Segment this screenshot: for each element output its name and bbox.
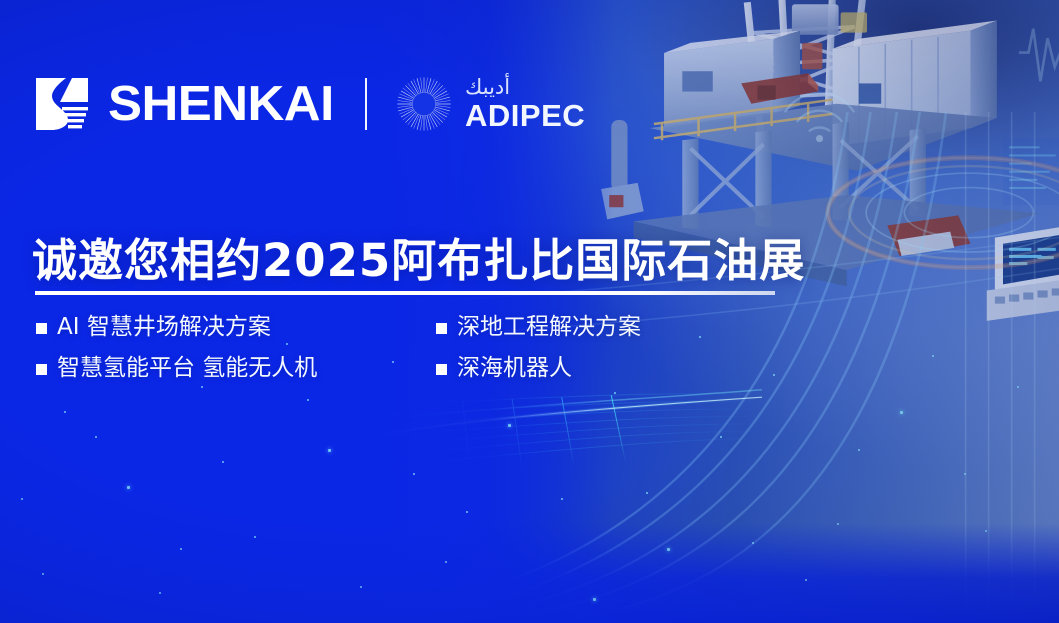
adipec-2025-promo-banner: SHENKAI — [0, 0, 1059, 623]
highlight-deep-sea-robot: 深海机器人 — [436, 355, 736, 381]
adipec-text-block: أديبك ADIPEC — [465, 77, 585, 131]
square-bullet-icon — [36, 323, 47, 334]
square-bullet-icon — [436, 364, 447, 375]
shenkai-sk-monogram-icon — [32, 76, 92, 132]
list-item-label: AI 智慧井场解决方案 — [57, 314, 271, 340]
page-title: 诚邀您相约2025阿布扎比国际石油展 — [32, 224, 805, 289]
adipec-latin-name: ADIPEC — [465, 100, 585, 131]
highlight-hydrogen-platform: 智慧氢能平台 氢能无人机 — [36, 355, 436, 381]
vertical-divider-icon — [365, 78, 367, 130]
adipec-logo: أديبك ADIPEC — [395, 75, 585, 133]
highlights-list: AI 智慧井场解决方案 深地工程解决方案 智慧氢能平台 氢能无人机 深海机器人 — [36, 314, 736, 396]
square-bullet-icon — [36, 364, 47, 375]
list-item-label: 深海机器人 — [457, 355, 572, 381]
logo-row: SHENKAI — [32, 66, 585, 142]
list-item: 智慧氢能平台 氢能无人机 深海机器人 — [36, 355, 736, 396]
adipec-arabic-name: أديبك — [465, 77, 585, 98]
shenkai-wordmark: SHENKAI — [108, 80, 334, 129]
list-item: AI 智慧井场解决方案 深地工程解决方案 — [36, 314, 736, 355]
adipec-radial-burst-icon — [395, 75, 453, 133]
list-item-label: 深地工程解决方案 — [457, 314, 641, 340]
list-item-label: 智慧氢能平台 氢能无人机 — [57, 355, 317, 381]
highlight-ai-wellsite: AI 智慧井场解决方案 — [36, 314, 436, 340]
banner-content: SHENKAI — [0, 0, 1059, 623]
square-bullet-icon — [436, 323, 447, 334]
highlight-deep-earth: 深地工程解决方案 — [436, 314, 736, 340]
title-underline-rule — [35, 291, 775, 295]
